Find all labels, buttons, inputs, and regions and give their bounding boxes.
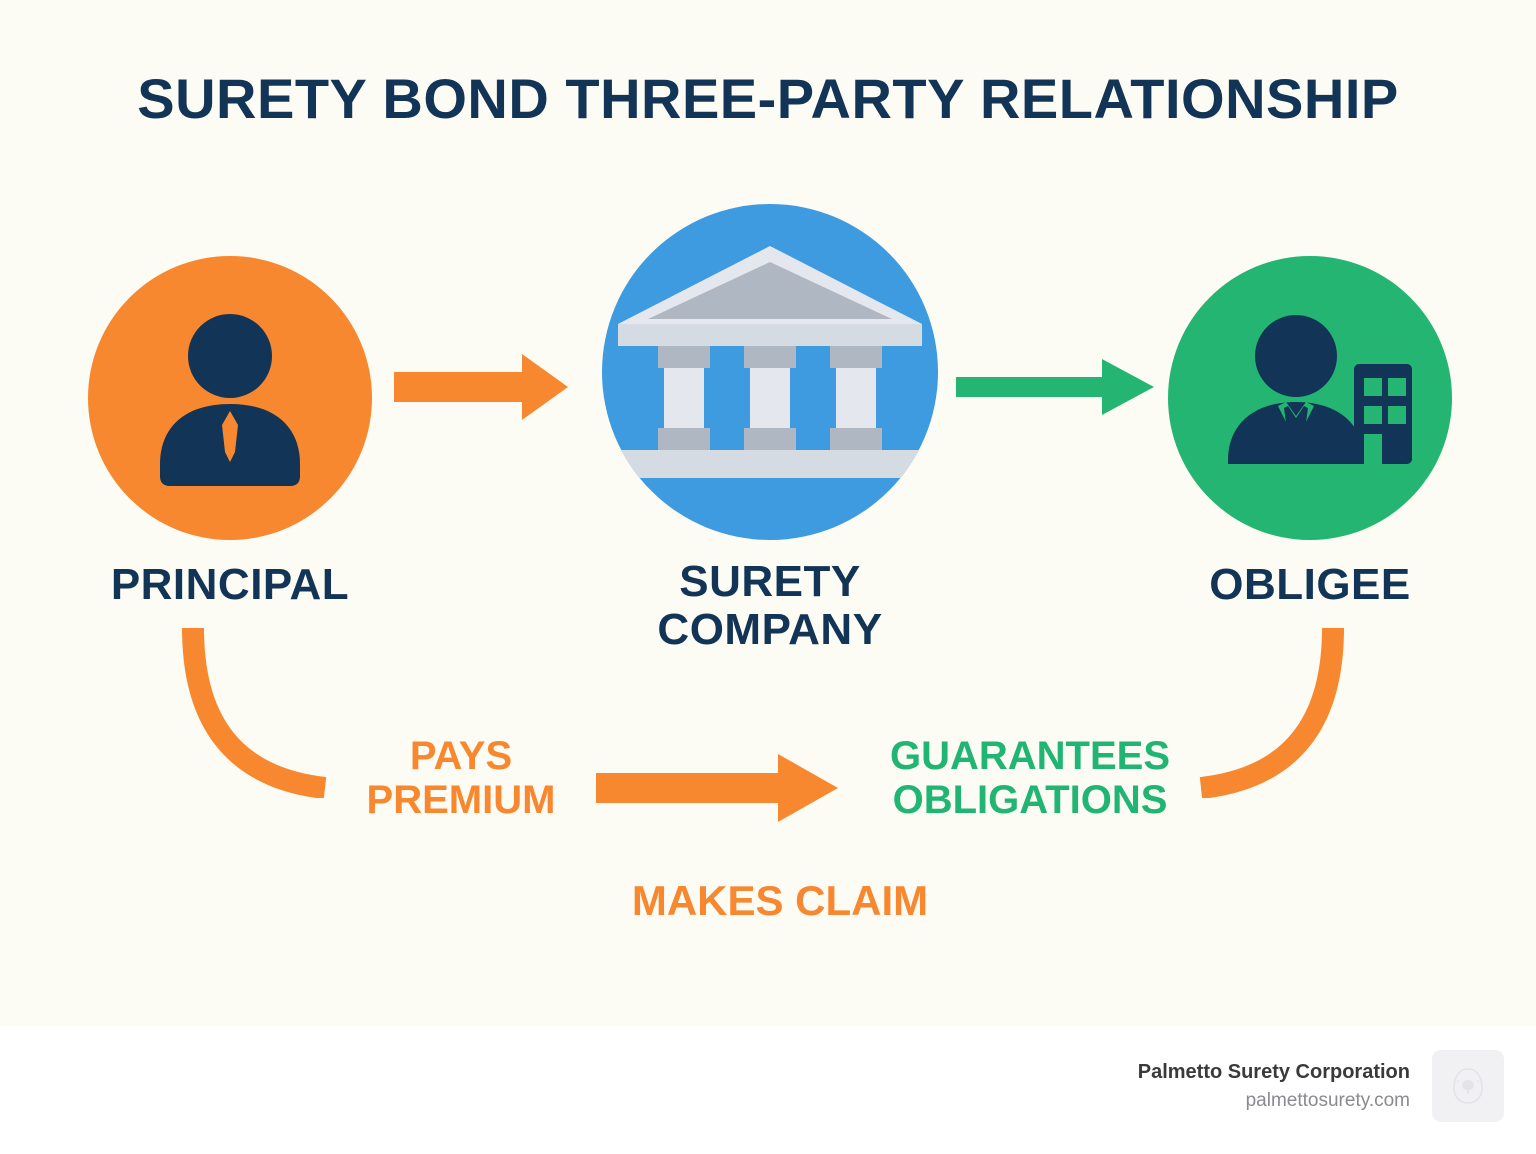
arrow-pays-to-guarantees (596, 752, 840, 829)
curve-obligee-down (1195, 628, 1385, 803)
arrow-right-icon (596, 752, 840, 824)
footer-bar: Palmetto Surety Corporation palmettosure… (0, 1026, 1536, 1154)
label-guarantees-obligations: GUARANTEES OBLIGATIONS (854, 734, 1206, 822)
footer-logo-box[interactable] (1432, 1050, 1504, 1122)
label-guarantees-line1: GUARANTEES (854, 734, 1206, 778)
label-pays-premium: PAYS PREMIUM (330, 734, 592, 822)
footer-company-name: Palmetto Surety Corporation (1138, 1058, 1410, 1087)
infographic-canvas: SURETY BOND THREE-PARTY RELATIONSHIP PRI… (0, 0, 1536, 1154)
node-surety[interactable]: SURETY COMPANY (590, 204, 950, 653)
node-obligee-label: OBLIGEE (1140, 561, 1480, 609)
page-title: SURETY BOND THREE-PARTY RELATIONSHIP (0, 66, 1536, 131)
arrow-right-icon (394, 350, 570, 424)
curve-down-left-icon (1195, 628, 1385, 798)
surety-circle (602, 204, 938, 540)
arrow-surety-to-obligee (956, 356, 1156, 423)
node-principal-label: PRINCIPAL (60, 561, 400, 609)
footer-website-url[interactable]: palmettosurety.com (1138, 1087, 1410, 1115)
node-obligee[interactable]: OBLIGEE (1140, 256, 1480, 609)
label-pays-premium-line1: PAYS (330, 734, 592, 778)
label-guarantees-line2: OBLIGATIONS (854, 778, 1206, 822)
palmetto-shield-logo-icon (1451, 1066, 1485, 1106)
arrow-right-icon (956, 356, 1156, 418)
node-surety-label-line2: COMPANY (590, 606, 950, 654)
footer-text-block: Palmetto Surety Corporation palmettosure… (1138, 1058, 1410, 1115)
principal-circle (88, 256, 372, 540)
bank-building-icon (602, 204, 938, 540)
node-surety-label-line1: SURETY (590, 558, 950, 606)
label-pays-premium-line2: PREMIUM (330, 778, 592, 822)
arrow-principal-to-surety (394, 350, 570, 429)
node-surety-label: SURETY COMPANY (590, 558, 950, 653)
label-makes-claim: MAKES CLAIM (520, 878, 1040, 924)
obligee-circle (1168, 256, 1452, 540)
person-tie-icon (88, 256, 372, 540)
person-with-building-icon (1168, 256, 1452, 540)
node-principal[interactable]: PRINCIPAL (60, 256, 400, 609)
footer-content: Palmetto Surety Corporation palmettosure… (1138, 1050, 1504, 1122)
